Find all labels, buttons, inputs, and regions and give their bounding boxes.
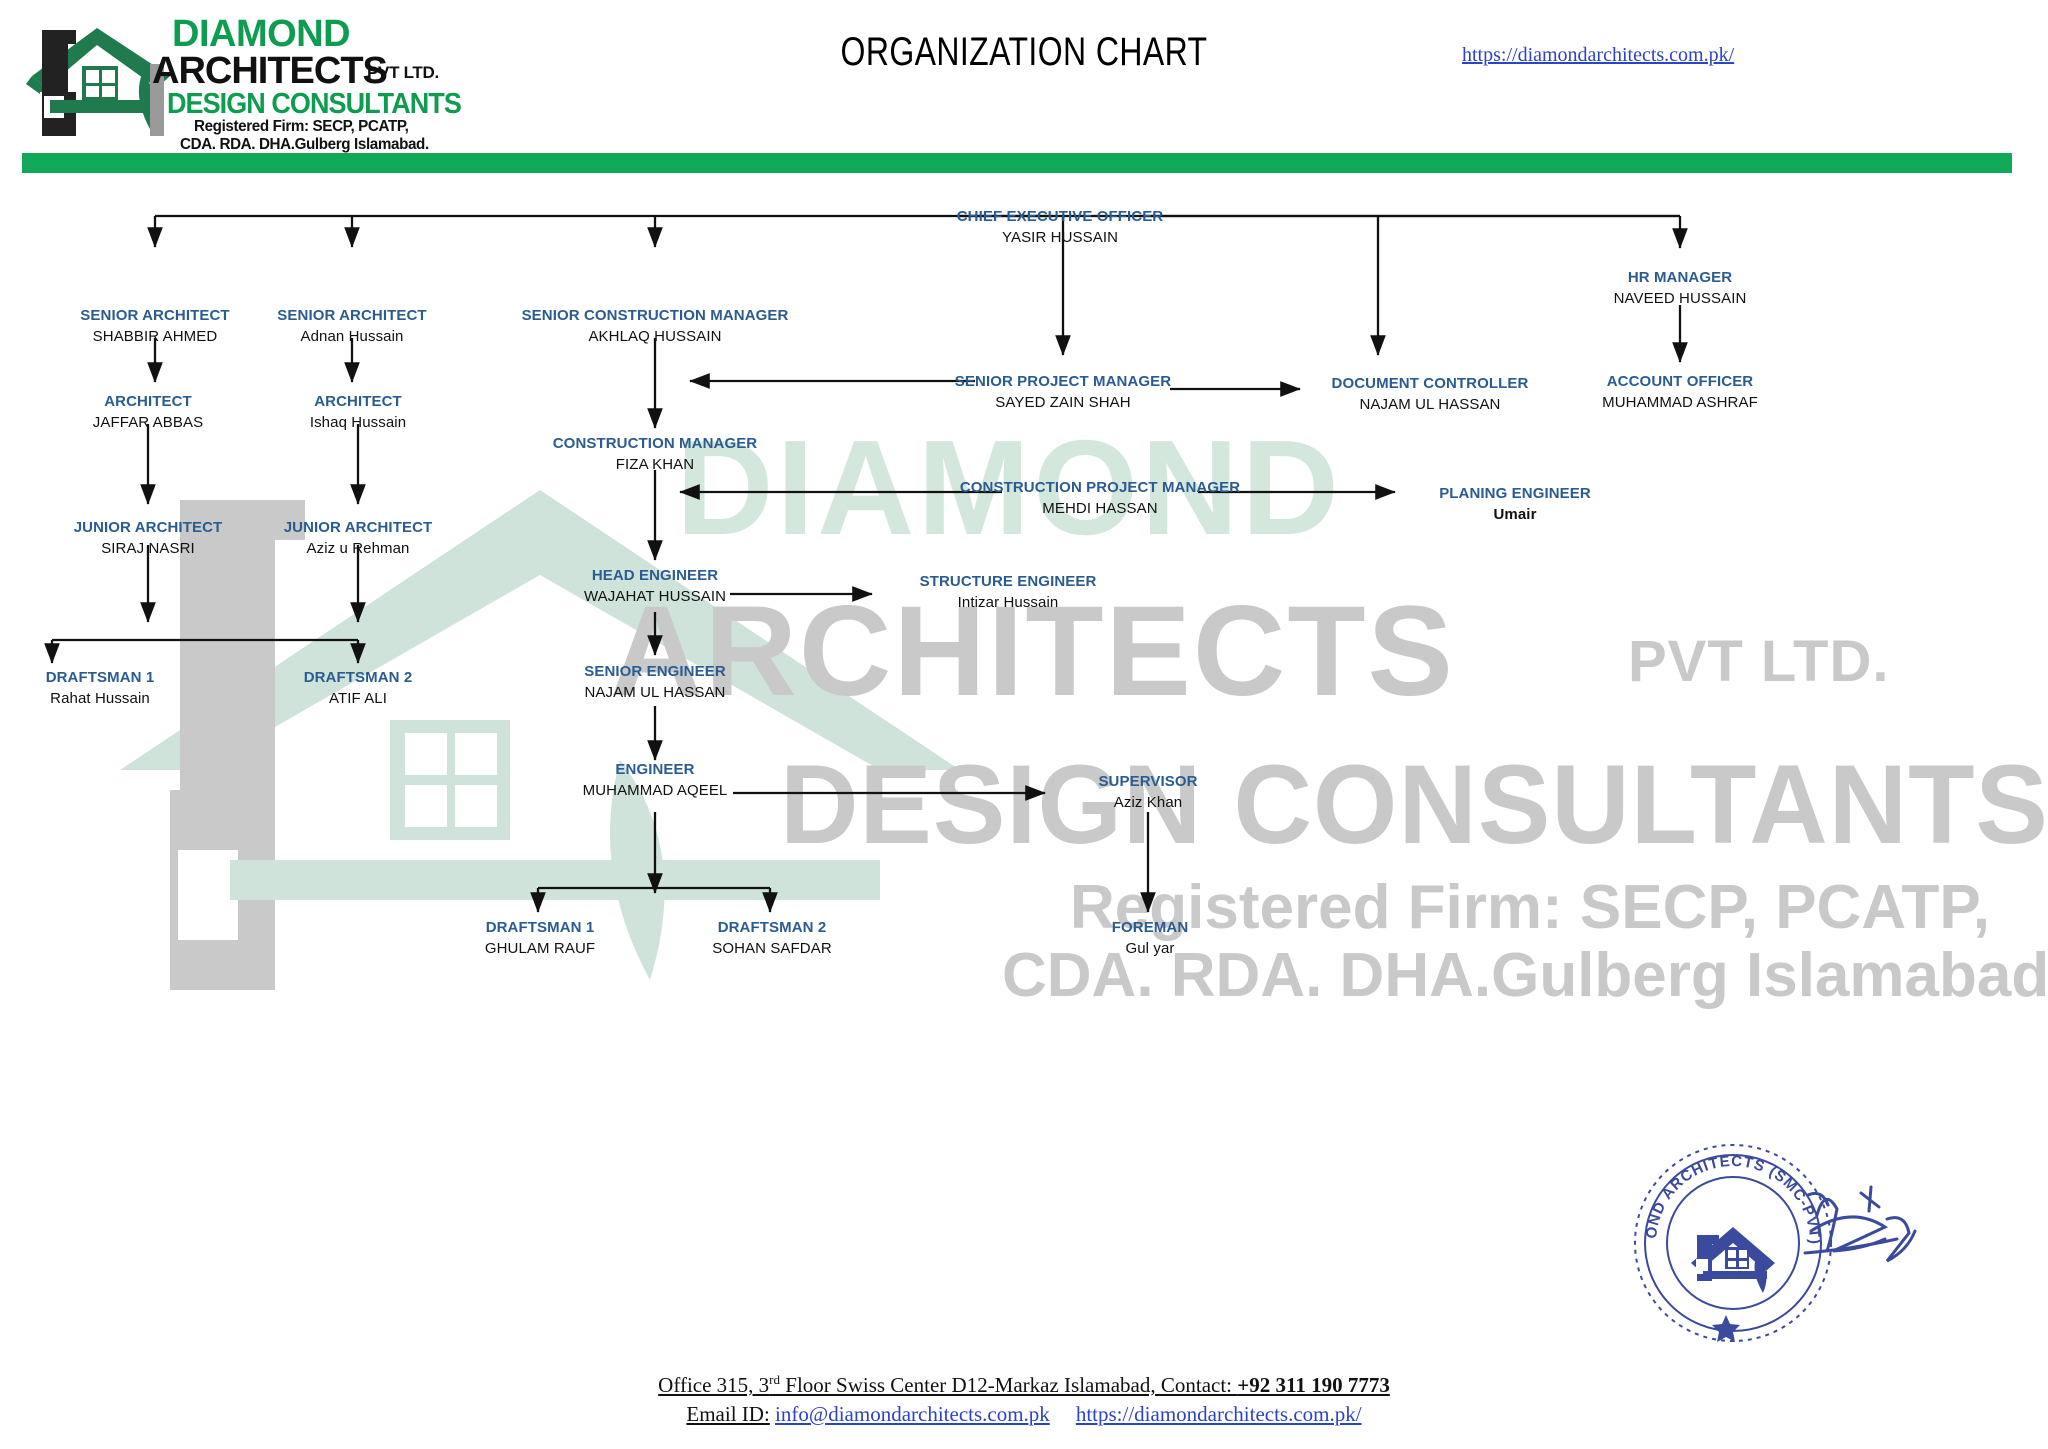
org-node-draftsman-b2[interactable]: DRAFTSMAN 2 SOHAN SAFDAR	[662, 918, 882, 960]
org-node-title: ACCOUNT OFFICER	[1560, 372, 1800, 392]
org-node-name: MUHAMMAD AQEEL	[545, 780, 765, 802]
org-node-account-officer[interactable]: ACCOUNT OFFICER MUHAMMAD ASHRAF	[1560, 372, 1800, 414]
footer-email-label: Email ID:	[686, 1402, 769, 1426]
org-node-name: SIRAJ NASRI	[38, 538, 258, 560]
org-node-sr-arch-2[interactable]: SENIOR ARCHITECT Adnan Hussain	[232, 306, 472, 348]
org-node-title: SUPERVISOR	[1048, 772, 1248, 792]
org-node-engineer[interactable]: ENGINEER MUHAMMAD AQEEL	[545, 760, 765, 802]
footer-address-line: Office 315, 3rd Floor Swiss Center D12-M…	[0, 1372, 2048, 1398]
org-node-name: SAYED ZAIN SHAH	[913, 392, 1213, 414]
org-node-name: MUHAMMAD ASHRAF	[1560, 392, 1800, 414]
org-node-title: HEAD ENGINEER	[545, 566, 765, 586]
org-node-draftsman-b1[interactable]: DRAFTSMAN 1 GHULAM RAUF	[430, 918, 650, 960]
org-node-title: ARCHITECT	[38, 392, 258, 412]
org-node-title: PLANING ENGINEER	[1405, 484, 1625, 504]
org-node-name: Intizar Hussain	[878, 592, 1138, 614]
org-node-name: Aziz Khan	[1048, 792, 1248, 814]
org-node-name: NAVEED HUSSAIN	[1560, 288, 1800, 310]
org-node-architect-1[interactable]: ARCHITECT JAFFAR ABBAS	[38, 392, 258, 434]
org-node-supervisor[interactable]: SUPERVISOR Aziz Khan	[1048, 772, 1248, 814]
org-node-sr-construction-manager[interactable]: SENIOR CONSTRUCTION MANAGER AKHLAQ HUSSA…	[475, 306, 835, 348]
company-stamp: DIAMOND ARCHITECTS (SMC-PVT) LTD	[1625, 1135, 1965, 1350]
page-footer: Office 315, 3rd Floor Swiss Center D12-M…	[0, 1372, 2048, 1427]
org-node-title: FOREMAN	[1050, 918, 1250, 938]
organization-chart-page: DIAMOND ARCHITECTS PVT LTD. DESIGN CONSU…	[0, 0, 2048, 1449]
org-node-title: SENIOR ARCHITECT	[232, 306, 472, 326]
footer-phone: +92 311 190 7773	[1237, 1373, 1390, 1397]
org-node-name: Aziz u Rehman	[248, 538, 468, 560]
org-node-title: JUNIOR ARCHITECT	[38, 518, 258, 538]
org-node-construction-project-manager[interactable]: CONSTRUCTION PROJECT MANAGER MEHDI HASSA…	[935, 478, 1265, 520]
org-node-title: SENIOR PROJECT MANAGER	[913, 372, 1213, 392]
org-node-senior-engineer[interactable]: SENIOR ENGINEER NAJAM UL HASSAN	[545, 662, 765, 704]
org-node-foreman[interactable]: FOREMAN Gul yar	[1050, 918, 1250, 960]
org-node-head-engineer[interactable]: HEAD ENGINEER WAJAHAT HUSSAIN	[545, 566, 765, 608]
footer-address-mid: Floor Swiss Center D12-Markaz Islamabad,…	[780, 1373, 1237, 1397]
org-node-title: ARCHITECT	[248, 392, 468, 412]
footer-website-link[interactable]: https://diamondarchitects.com.pk/	[1076, 1402, 1362, 1426]
org-node-title: SENIOR ENGINEER	[545, 662, 765, 682]
org-node-name: NAJAM UL HASSAN	[1290, 394, 1570, 416]
org-node-document-controller[interactable]: DOCUMENT CONTROLLER NAJAM UL HASSAN	[1290, 374, 1570, 416]
org-node-construction-manager[interactable]: CONSTRUCTION MANAGER FIZA KHAN	[515, 434, 795, 476]
footer-email-link[interactable]: info@diamondarchitects.com.pk	[775, 1402, 1050, 1426]
org-node-junior-architect-2[interactable]: JUNIOR ARCHITECT Aziz u Rehman	[248, 518, 468, 560]
org-node-title: ENGINEER	[545, 760, 765, 780]
org-node-name: NAJAM UL HASSAN	[545, 682, 765, 704]
org-node-name: Umair	[1405, 504, 1625, 526]
org-node-name: Gul yar	[1050, 938, 1250, 960]
org-node-hr-manager[interactable]: HR MANAGER NAVEED HUSSAIN	[1560, 268, 1800, 310]
org-node-draftsman-a2[interactable]: DRAFTSMAN 2 ATIF ALI	[248, 668, 468, 710]
org-node-draftsman-a1[interactable]: DRAFTSMAN 1 Rahat Hussain	[0, 668, 210, 710]
org-node-title: CONSTRUCTION MANAGER	[515, 434, 795, 454]
org-node-title: DRAFTSMAN 2	[248, 668, 468, 688]
org-node-title: CHIEF EXECUTIVE OFFICER	[900, 207, 1220, 227]
org-node-name: GHULAM RAUF	[430, 938, 650, 960]
org-node-title: DRAFTSMAN 2	[662, 918, 882, 938]
org-node-name: MEHDI HASSAN	[935, 498, 1265, 520]
svg-text:DIAMOND ARCHITECTS (SMC-PVT) L: DIAMOND ARCHITECTS (SMC-PVT) LTD	[1625, 1135, 1823, 1245]
org-node-title: HR MANAGER	[1560, 268, 1800, 288]
org-node-name: WAJAHAT HUSSAIN	[545, 586, 765, 608]
org-node-title: SENIOR CONSTRUCTION MANAGER	[475, 306, 835, 326]
org-node-name: JAFFAR ABBAS	[38, 412, 258, 434]
org-node-name: SOHAN SAFDAR	[662, 938, 882, 960]
footer-address-ordinal: rd	[769, 1372, 780, 1387]
org-node-structure-engineer[interactable]: STRUCTURE ENGINEER Intizar Hussain	[878, 572, 1138, 614]
org-node-name: AKHLAQ HUSSAIN	[475, 326, 835, 348]
org-node-name: Rahat Hussain	[0, 688, 210, 710]
footer-contact-line: Email ID: info@diamondarchitects.com.pkh…	[0, 1402, 2048, 1427]
org-node-junior-architect-1[interactable]: JUNIOR ARCHITECT SIRAJ NASRI	[38, 518, 258, 560]
org-node-title: DRAFTSMAN 1	[0, 668, 210, 688]
org-node-planing-engineer[interactable]: PLANING ENGINEER Umair	[1405, 484, 1625, 526]
org-node-ceo[interactable]: CHIEF EXECUTIVE OFFICER YASIR HUSSAIN	[900, 207, 1220, 249]
org-node-title: DOCUMENT CONTROLLER	[1290, 374, 1570, 394]
org-node-name: YASIR HUSSAIN	[900, 227, 1220, 249]
org-node-title: CONSTRUCTION PROJECT MANAGER	[935, 478, 1265, 498]
org-node-name: ATIF ALI	[248, 688, 468, 710]
org-node-name: FIZA KHAN	[515, 454, 795, 476]
org-node-title: JUNIOR ARCHITECT	[248, 518, 468, 538]
org-node-senior-project-manager[interactable]: SENIOR PROJECT MANAGER SAYED ZAIN SHAH	[913, 372, 1213, 414]
org-node-architect-2[interactable]: ARCHITECT Ishaq Hussain	[248, 392, 468, 434]
org-node-title: STRUCTURE ENGINEER	[878, 572, 1138, 592]
org-node-name: Ishaq Hussain	[248, 412, 468, 434]
org-node-name: Adnan Hussain	[232, 326, 472, 348]
footer-address-prefix: Office 315, 3	[658, 1373, 769, 1397]
org-node-title: DRAFTSMAN 1	[430, 918, 650, 938]
